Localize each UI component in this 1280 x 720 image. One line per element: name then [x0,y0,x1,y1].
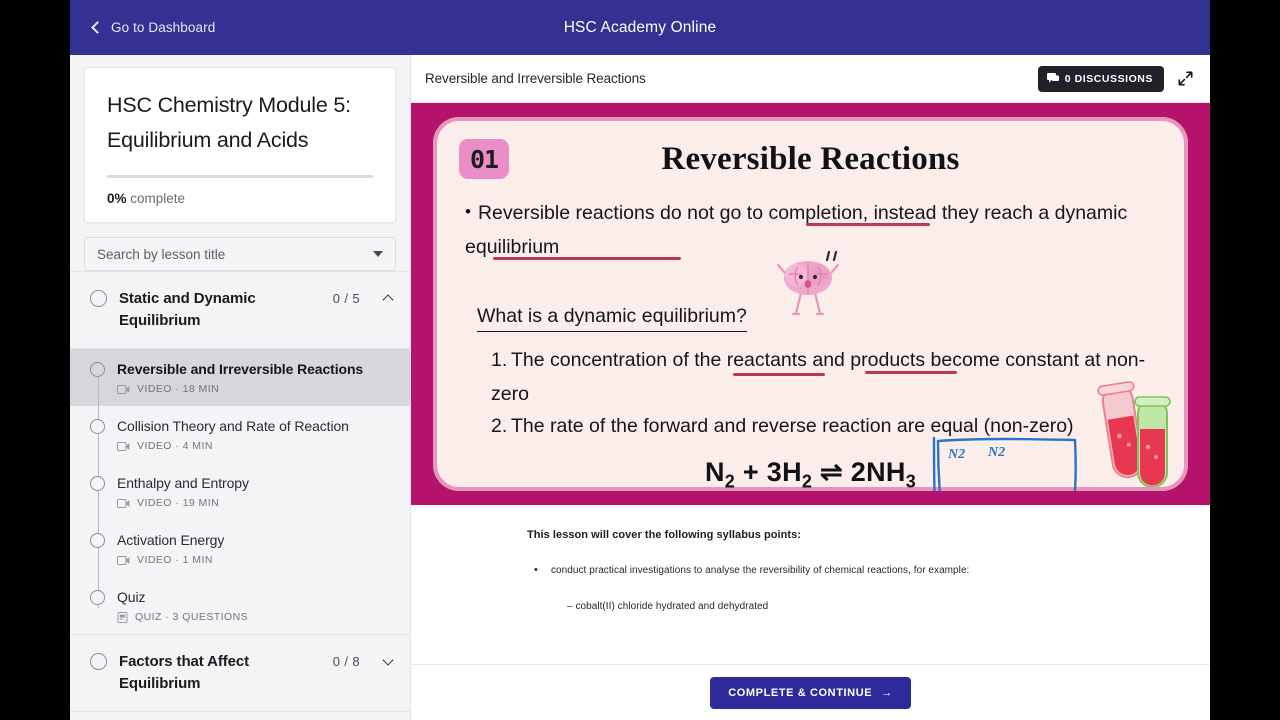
search-placeholder: Search by lesson title [97,247,373,262]
course-progress-label: 0% complete [107,191,373,206]
lesson-main-pane: Reversible and Irreversible Reactions 0 … [410,55,1210,720]
section-title: Factors that Affect Equilibrium [119,651,321,695]
lesson-title: Activation Energy [117,531,394,549]
lesson-section: Factors that Affect Equilibrium0 / 8 [70,634,410,711]
chevron-down-icon [373,251,383,257]
lesson-status-circle-icon [90,419,105,434]
search-input[interactable]: Search by lesson title [84,237,396,271]
app-viewport: Go to Dashboard HSC Academy Online HSC C… [70,0,1210,720]
course-progress-bar [107,175,373,178]
lesson-body: QuizQUIZ · 3 QUESTIONS [117,588,394,623]
lesson-title: Quiz [117,588,394,606]
syllabus-point: conduct practical investigations to anal… [551,563,1210,579]
lesson-meta-label: QUIZ · 3 QUESTIONS [135,611,248,623]
site-brand-title: HSC Academy Online [70,19,1210,37]
lesson-status-circle-icon [90,362,105,377]
lesson-footer: COMPLETE & CONTINUE → [411,664,1210,720]
lesson-meta: VIDEO · 4 MIN [117,440,394,452]
expand-icon[interactable] [1177,70,1194,87]
lesson-item[interactable]: Collision Theory and Rate of ReactionVID… [70,406,410,463]
lesson-meta-label: VIDEO · 4 MIN [137,440,213,452]
slide-point-1-number: 1. [491,343,511,377]
section-status-circle-icon [90,653,107,670]
lesson-status-circle-icon [90,533,105,548]
lesson-item[interactable]: Reversible and Irreversible ReactionsVID… [70,349,410,406]
discussions-button[interactable]: 0 DISCUSSIONS [1038,66,1164,92]
video-icon [117,442,130,451]
annotation-label-1: N2 [948,447,965,463]
equation-nh3-coeff: 2 [851,457,866,487]
lesson-title: Collision Theory and Rate of Reaction [117,417,394,435]
underline-dynamic-equilibrium [493,257,681,260]
syllabus-points-list: conduct practical investigations to anal… [551,563,1210,579]
lesson-header-bar: Reversible and Irreversible Reactions 0 … [411,55,1210,103]
quiz-icon [117,612,128,623]
equation-h: H [782,457,802,487]
section-header[interactable]: Factors that Affect Equilibrium0 / 8 [70,635,410,711]
underline-to-completion [806,223,930,226]
equation-n-sub: 2 [725,471,735,491]
lesson-meta: VIDEO · 19 MIN [117,497,394,509]
slide-point-2-number: 2. [491,409,511,443]
lesson-meta: QUIZ · 3 QUESTIONS [117,611,394,623]
lesson-section: Static and Dynamic Equilibrium0 / 5Rever… [70,271,410,634]
complete-button-label: COMPLETE & CONTINUE [728,687,872,699]
equation-nh3-sub: 3 [906,471,916,491]
equation-plus: + [743,457,759,487]
lesson-status-circle-icon [90,590,105,605]
complete-and-continue-button[interactable]: COMPLETE & CONTINUE → [710,677,911,709]
slide-paper: 01 Reversible Reactions •Reversible reac… [433,117,1188,491]
comment-icon [1047,73,1059,84]
syllabus-sub-point: – cobalt(II) chloride hydrated and dehyd… [567,601,1210,612]
equation-equilibrium-arrow: ⇌ [820,457,843,487]
section-progress-count: 0 / 8 [333,654,360,669]
section-header[interactable]: Calculating Equilibrium0 / 5 [70,712,410,720]
equation-h-coeff: 3 [767,457,782,487]
course-summary-card: HSC Chemistry Module 5: Equilibrium and … [84,67,396,223]
lesson-title: Enthalpy and Entropy [117,474,394,492]
handdrawn-annotation-box: N2 N2 [931,435,1081,491]
underline-reactants [733,373,825,376]
lesson-meta: VIDEO · 1 MIN [117,554,394,566]
slide-title: Reversible Reactions [433,141,1188,178]
lesson-item[interactable]: QuizQUIZ · 3 QUESTIONS [70,577,410,634]
chevron-up-icon[interactable] [382,294,393,305]
bullet-dot-icon: • [465,202,471,221]
course-sidebar: HSC Chemistry Module 5: Equilibrium and … [70,55,410,720]
lesson-item[interactable]: Activation EnergyVIDEO · 1 MIN [70,520,410,577]
go-to-dashboard-label: Go to Dashboard [111,20,215,35]
video-slide-frame[interactable]: 01 Reversible Reactions •Reversible reac… [411,103,1210,505]
lesson-body: Reversible and Irreversible ReactionsVID… [117,360,394,395]
section-title: Static and Dynamic Equilibrium [119,288,321,332]
equation-h-sub: 2 [802,471,812,491]
section-status-circle-icon [90,290,107,307]
slide-point-1-text: The concentration of the reactants and p… [491,349,1145,405]
equation-n: N [705,457,725,487]
arrow-right-icon: → [881,687,893,699]
syllabus-section: This lesson will cover the following syl… [411,505,1210,664]
equation-nh3: NH [866,457,906,487]
lesson-item[interactable]: Enthalpy and EntropyVIDEO · 19 MIN [70,463,410,520]
lesson-meta-label: VIDEO · 19 MIN [137,497,219,509]
course-progress-percent: 0% [107,191,127,206]
slide-point-2-text: The rate of the forward and reverse reac… [511,415,1074,437]
slide-point-1: 1.The concentration of the reactants and… [491,343,1158,411]
video-icon [117,499,130,508]
section-header[interactable]: Static and Dynamic Equilibrium0 / 5 [70,272,410,348]
annotation-label-2: N2 [988,445,1005,461]
underline-products [865,371,957,374]
handdrawn-rect-icon [931,435,1081,491]
video-icon [117,556,130,565]
top-navigation-bar: Go to Dashboard HSC Academy Online [70,0,1210,55]
chevron-down-icon[interactable] [382,654,393,665]
chevron-left-icon [91,21,104,34]
brain-mascot-icon [771,247,845,321]
lesson-body: Enthalpy and EntropyVIDEO · 19 MIN [117,474,394,509]
lesson-body: Activation EnergyVIDEO · 1 MIN [117,531,394,566]
lesson-meta-label: VIDEO · 1 MIN [137,554,213,566]
lesson-body: Collision Theory and Rate of ReactionVID… [117,417,394,452]
lesson-section: Calculating Equilibrium0 / 5 [70,711,410,720]
lesson-list: Reversible and Irreversible ReactionsVID… [70,348,410,634]
syllabus-heading: This lesson will cover the following syl… [527,529,1210,541]
lesson-status-circle-icon [90,476,105,491]
slide-question-heading: What is a dynamic equilibrium? [477,303,747,332]
course-progress-suffix: complete [130,191,185,206]
discussions-label: 0 DISCUSSIONS [1065,73,1153,85]
lesson-meta: VIDEO · 18 MIN [117,383,394,395]
lesson-sections-list: Static and Dynamic Equilibrium0 / 5Rever… [70,271,410,720]
lesson-title: Reversible and Irreversible Reactions [117,360,394,378]
lesson-header-title: Reversible and Irreversible Reactions [425,71,1038,86]
lesson-meta-label: VIDEO · 18 MIN [137,383,219,395]
go-to-dashboard-link[interactable]: Go to Dashboard [93,20,215,35]
section-progress-count: 0 / 5 [333,291,360,306]
course-title: HSC Chemistry Module 5: Equilibrium and … [107,88,373,158]
video-icon [117,385,130,394]
test-tubes-icon [1096,379,1180,487]
